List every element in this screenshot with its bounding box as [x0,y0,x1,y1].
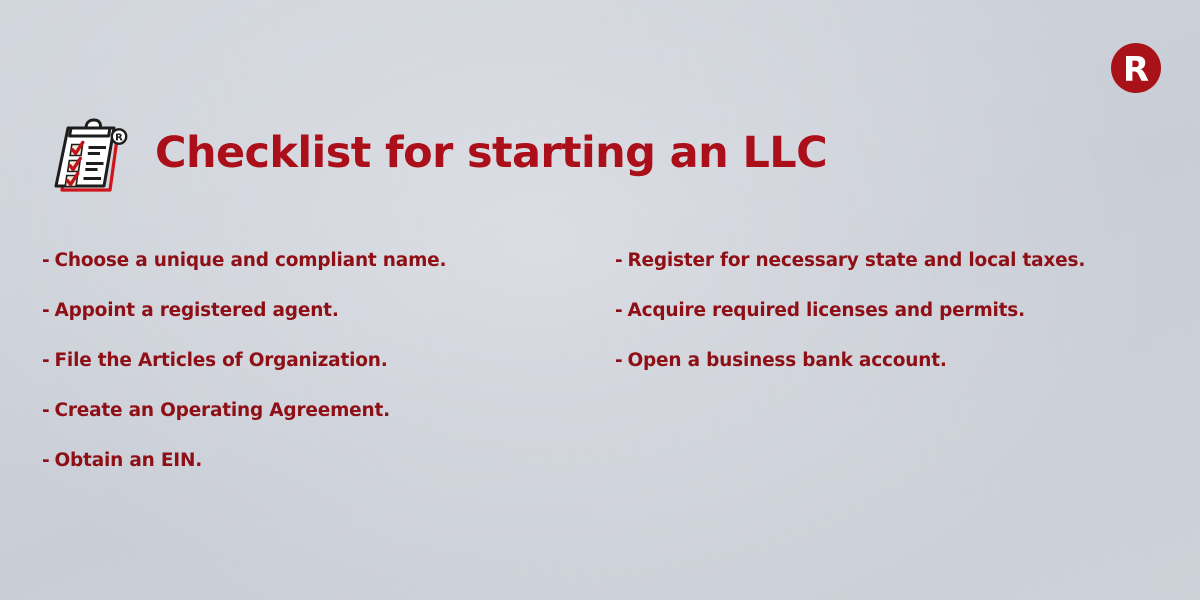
clipboard-checklist-icon: R [40,114,136,198]
bullet-dash: - [42,300,54,321]
checklist-item-label: Create an Operating Agreement. [54,400,389,421]
checklist-item-label: Appoint a registered agent. [54,300,338,321]
page-title: Checklist for starting an LLC [155,122,827,184]
checklist-item: -Appoint a registered agent. [42,286,602,336]
bullet-dash: - [42,400,54,421]
brand-r-logo[interactable]: R [1110,42,1162,94]
checklist-column-right: -Register for necessary state and local … [615,236,1175,386]
checklist-item: -Obtain an EIN. [42,436,602,486]
checklist-item-label: Obtain an EIN. [54,450,202,471]
infographic-canvas: R [0,0,1200,600]
bullet-dash: - [615,300,627,321]
svg-text:R: R [1123,50,1149,90]
registered-mark-badge: R [112,129,126,143]
checklist-column-left: -Choose a unique and compliant name. -Ap… [42,236,602,486]
bullet-dash: - [42,450,54,471]
svg-text:R: R [115,133,123,144]
checklist-item-label: Choose a unique and compliant name. [54,250,446,271]
bullet-dash: - [42,250,54,271]
bullet-dash: - [615,250,627,271]
checklist-item-label: Register for necessary state and local t… [627,250,1085,271]
checklist: -Choose a unique and compliant name. -Ap… [0,236,1200,536]
checklist-item: -File the Articles of Organization. [42,336,602,386]
header: R Checklist for starting an LLC [40,114,1040,198]
checklist-item: -Register for necessary state and local … [615,236,1175,286]
checklist-item: -Open a business bank account. [615,336,1175,386]
bullet-dash: - [42,350,54,371]
checklist-item-label: File the Articles of Organization. [54,350,387,371]
checklist-item: -Acquire required licenses and permits. [615,286,1175,336]
checklist-item-label: Open a business bank account. [627,350,946,371]
checklist-item: -Choose a unique and compliant name. [42,236,602,286]
checklist-item: -Create an Operating Agreement. [42,386,602,436]
bullet-dash: - [615,350,627,371]
checklist-item-label: Acquire required licenses and permits. [627,300,1024,321]
